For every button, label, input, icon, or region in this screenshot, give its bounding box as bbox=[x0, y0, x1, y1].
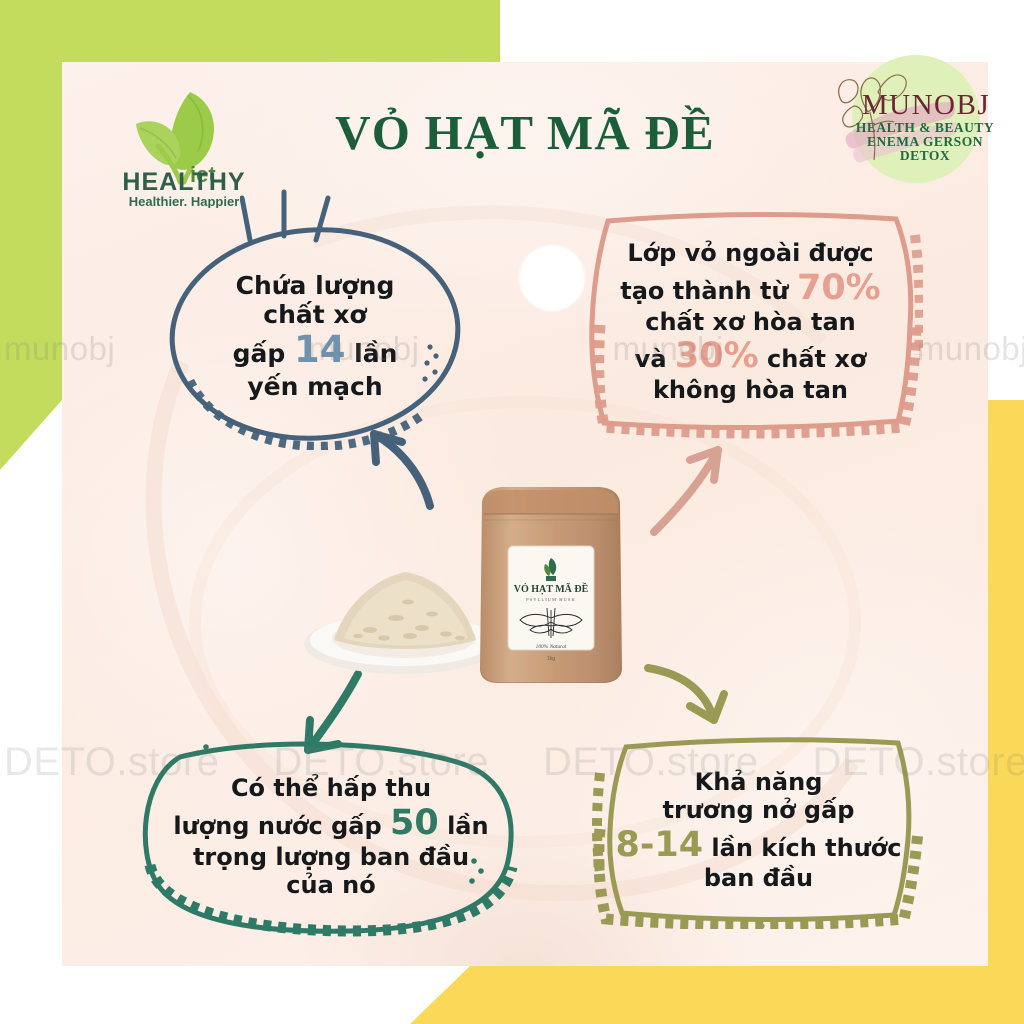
arrow-to-swell-icon bbox=[630, 648, 772, 770]
munobj-wordmark: MUNOBJ bbox=[862, 89, 990, 121]
swelling-capacity-line-4: ban đầu bbox=[704, 865, 813, 893]
viet-healthy-logo: iet HEALTHY Healthier. Happier bbox=[118, 78, 250, 208]
pouch-label-subtitle: PSYLLIUM HUSK bbox=[526, 597, 576, 602]
water-absorption-line-1: Có thể hấp thu bbox=[231, 775, 431, 803]
husk-composition-line-4: và 30% chất xơ bbox=[635, 336, 867, 377]
husk-bubble-text: Lớp vỏ ngoài đượctạo thành từ 70%chất xơ… bbox=[578, 205, 923, 440]
callout-husk-composition: Lớp vỏ ngoài đượctạo thành từ 70%chất xơ… bbox=[578, 205, 923, 440]
swelling-capacity-highlight: 8-14 bbox=[615, 825, 703, 865]
pouch-label-footer: 100% Natural bbox=[536, 644, 567, 650]
pouch-label-title: VỎ HẠT MÃ ĐỀ bbox=[514, 582, 589, 595]
fiber-content-line-4: yến mạch bbox=[247, 372, 382, 401]
fiber-content-line-3: gấp 14 lần bbox=[233, 329, 398, 372]
product-pouch: VỎ HẠT MÃ ĐỀ PSYLLIUM HUSK 100% Natural … bbox=[468, 478, 633, 690]
fiber-content-line-2: chất xơ bbox=[263, 300, 366, 329]
husk-composition-line-1: Lớp vỏ ngoài được bbox=[627, 240, 873, 268]
viet-logo-healthy: HEALTHY bbox=[122, 168, 245, 196]
water-absorption-line-4: của nó bbox=[286, 872, 375, 900]
swelling-capacity-line-1: Khả năng bbox=[695, 769, 823, 797]
husk-composition-highlight: 30% bbox=[675, 336, 759, 376]
husk-composition-line-2: tạo thành từ 70% bbox=[620, 268, 881, 309]
water-absorption-line-3: trọng lượng ban đầu bbox=[193, 844, 469, 872]
swelling-capacity-line-2: trương nở gấp bbox=[663, 797, 855, 825]
pouch-weight: 1kg bbox=[547, 656, 555, 662]
husk-composition-highlight: 70% bbox=[797, 268, 881, 308]
decorative-white-circle bbox=[519, 245, 585, 311]
arrow-to-fiber-icon bbox=[330, 418, 450, 513]
fiber-content-highlight: 14 bbox=[294, 328, 346, 371]
munobj-line3: DETOX bbox=[900, 148, 950, 163]
munobj-line2: ENEMA GERSON bbox=[867, 134, 983, 149]
viet-logo-tagline: Healthier. Happier bbox=[129, 194, 240, 208]
callout-fiber-content: Chứa lượngchất xơgấp 14 lầnyến mạch bbox=[165, 222, 465, 450]
arrow-to-husk-icon bbox=[640, 428, 762, 540]
water-absorption-highlight: 50 bbox=[390, 803, 439, 843]
munobj-store-logo: MUNOBJ HEALTH & BEAUTY ENEMA GERSON DETO… bbox=[826, 52, 996, 198]
husk-composition-line-5: không hòa tan bbox=[653, 377, 848, 405]
munobj-line1: HEALTH & BEAUTY bbox=[856, 120, 994, 135]
husk-composition-line-3: chất xơ hòa tan bbox=[645, 309, 856, 337]
page-title: VỎ HẠT MÃ ĐỀ bbox=[330, 108, 720, 157]
swelling-capacity-line-3: 8-14 lần kích thước bbox=[615, 825, 901, 866]
fiber-bubble-text: Chứa lượngchất xơgấp 14 lầnyến mạch bbox=[165, 222, 465, 450]
fiber-content-line-1: Chứa lượng bbox=[236, 271, 395, 300]
infographic-canvas: iet HEALTHY Healthier. Happier MUNOBJ HE… bbox=[0, 0, 1024, 1024]
water-absorption-line-2: lượng nước gấp 50 lần bbox=[173, 803, 488, 844]
